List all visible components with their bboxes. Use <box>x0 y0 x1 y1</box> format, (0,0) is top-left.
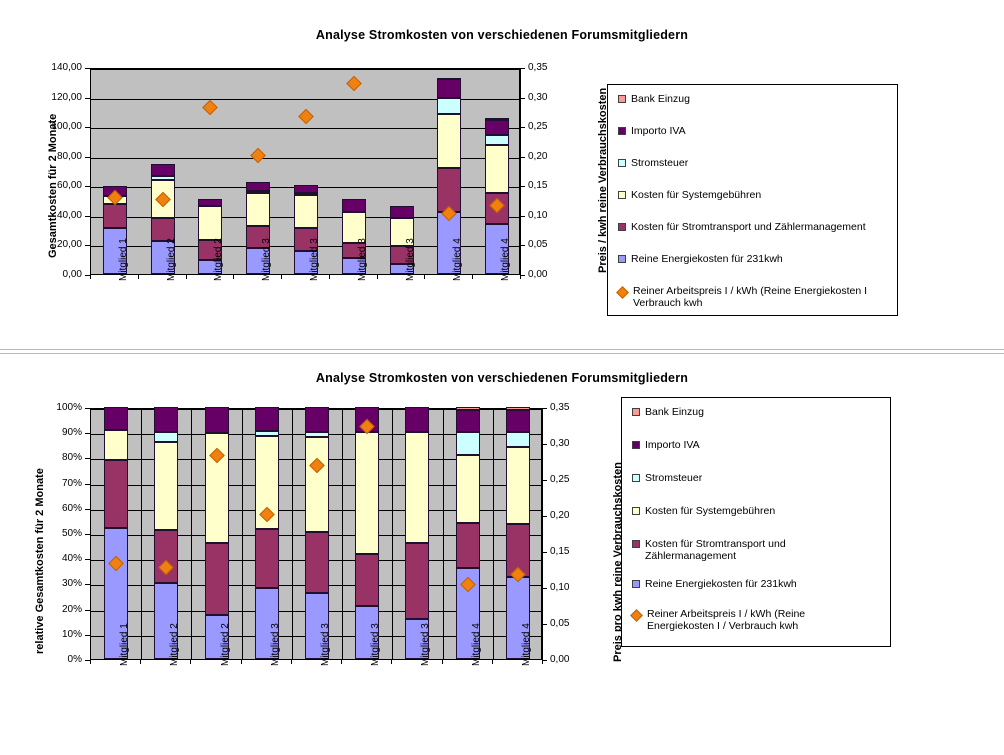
bar-segment[interactable] <box>485 120 509 135</box>
secondary-y-axis-line <box>520 68 521 275</box>
bar-segment[interactable] <box>154 530 178 583</box>
y-axis-tick-label: 40,00 <box>38 211 82 221</box>
x-axis-label: Mitglied 3 <box>370 623 381 666</box>
legend-item[interactable]: Kosten für Systemgebühren <box>618 189 919 201</box>
chart-title-absolute: Analyse Stromkosten von verschiedenen Fo… <box>0 28 1004 42</box>
legend-item[interactable]: Kosten für Stromtransport und Zählermana… <box>618 221 919 233</box>
bar-segment[interactable] <box>390 206 414 217</box>
legend-item[interactable]: Reiner Arbeitspreis I / kWh (Reine Energ… <box>618 285 919 309</box>
legend-item[interactable]: Bank Einzug <box>618 93 919 105</box>
x-axis-tick <box>281 275 282 279</box>
legend-relative: Bank EinzugImporto IVAStromsteuerKosten … <box>621 397 891 647</box>
y-axis-title: relative Gesamtkosten für 2 Monate <box>34 468 46 654</box>
bar-segment[interactable] <box>456 410 480 433</box>
legend-label: Bank Einzug <box>645 406 704 418</box>
legend-swatch-icon <box>618 159 626 167</box>
stacked-bar[interactable] <box>305 407 329 659</box>
legend-label: Reiner Arbeitspreis I / kWh (Reine Energ… <box>647 608 805 632</box>
y-axis-tick-label: 20,00 <box>38 240 82 250</box>
bar-segment[interactable] <box>154 442 178 530</box>
bar-segment[interactable] <box>506 447 530 524</box>
x-axis-tick <box>520 275 521 279</box>
y-axis-tick-label: 120,00 <box>38 93 82 103</box>
bar-segment[interactable] <box>294 185 318 193</box>
legend-label: Kosten für Systemgebühren <box>645 505 775 517</box>
legend-swatch-icon <box>618 255 626 263</box>
vertical-gridline <box>292 409 293 659</box>
legend-label: Importo IVA <box>645 439 700 451</box>
bar-segment[interactable] <box>205 407 229 433</box>
bar-segment[interactable] <box>305 437 329 532</box>
x-axis-tick <box>186 275 187 279</box>
legend-item[interactable]: Reine Energiekosten für 231kwh <box>632 578 912 590</box>
x-axis-tick <box>140 660 141 664</box>
legend-item[interactable]: Importo IVA <box>632 439 912 451</box>
secondary-y-axis-tick-label: 0,30 <box>550 439 569 449</box>
y-axis-tick-label: 90% <box>38 428 82 438</box>
x-axis-tick <box>492 660 493 664</box>
bar-segment[interactable] <box>154 432 178 442</box>
bar-segment[interactable] <box>355 554 379 606</box>
y-axis-tick-label: 60,00 <box>38 181 82 191</box>
x-axis-tick <box>472 275 473 279</box>
bar-segment[interactable] <box>255 431 279 436</box>
bar-segment[interactable] <box>305 532 329 594</box>
bar-segment[interactable] <box>506 407 530 410</box>
stacked-bar[interactable] <box>255 407 279 659</box>
legend-swatch-icon <box>632 441 640 449</box>
secondary-y-axis-tick-label: 0,05 <box>550 619 569 629</box>
y-axis-tick-label: 100,00 <box>38 122 82 132</box>
x-axis-tick <box>329 275 330 279</box>
legend-swatch-icon <box>632 580 640 588</box>
bar-segment[interactable] <box>405 543 429 619</box>
x-axis-tick <box>190 660 191 664</box>
x-axis-label: Mitglied 4 <box>521 623 532 666</box>
bar-segment[interactable] <box>104 407 128 430</box>
vertical-gridline <box>392 409 393 659</box>
bar-segment[interactable] <box>294 195 318 228</box>
stacked-bar[interactable] <box>456 407 480 659</box>
secondary-y-axis-tick-label: 0,25 <box>550 475 569 485</box>
legend-swatch-icon <box>618 127 626 135</box>
x-axis-tick <box>291 660 292 664</box>
x-axis-label: Mitglied 3 <box>309 238 320 281</box>
bar-segment[interactable] <box>456 407 480 410</box>
bar-segment[interactable] <box>437 114 461 168</box>
stacked-bar[interactable] <box>506 407 530 659</box>
secondary-y-axis-tick-label: 0,20 <box>550 511 569 521</box>
bar-segment[interactable] <box>456 432 480 455</box>
chart-title-relative: Analyse Stromkosten von verschiedenen Fo… <box>0 371 1004 385</box>
x-axis-label: Mitglied 2 <box>220 623 231 666</box>
stacked-bar[interactable] <box>205 407 229 659</box>
x-axis-tick <box>341 660 342 664</box>
secondary-y-axis-tick-label: 0,25 <box>528 122 547 132</box>
bar-segment[interactable] <box>506 432 530 447</box>
bar-segment[interactable] <box>305 407 329 432</box>
bar-segment[interactable] <box>246 182 270 191</box>
bar-segment[interactable] <box>506 410 530 433</box>
chart-panel-relative: Analyse Stromkosten von verschiedenen Fo… <box>0 352 1004 755</box>
legend-item[interactable]: Stromsteuer <box>632 472 912 484</box>
legend-label: Reine Energiekosten für 231kwh <box>645 578 797 590</box>
x-axis-label: Mitglied 3 <box>270 623 281 666</box>
vertical-gridline <box>191 409 192 659</box>
legend-swatch-icon <box>618 191 626 199</box>
x-axis-tick <box>241 660 242 664</box>
y-axis-line <box>90 408 91 660</box>
legend-label: Stromsteuer <box>631 157 688 169</box>
secondary-y-axis-tick-label: 0,10 <box>550 583 569 593</box>
secondary-y-axis-line <box>542 408 543 660</box>
legend-item[interactable]: Stromsteuer <box>618 157 919 169</box>
x-axis-tick <box>391 660 392 664</box>
vertical-gridline <box>443 409 444 659</box>
x-axis-label: Mitglied 4 <box>452 238 463 281</box>
bar-segment[interactable] <box>198 199 222 206</box>
legend-label: Reine Energiekosten für 231kwh <box>631 253 783 265</box>
legend-label: Importo IVA <box>631 125 686 137</box>
secondary-y-axis-tick-label: 0,00 <box>550 655 569 665</box>
panel-divider <box>0 349 1004 350</box>
y-axis-tick-label: 100% <box>38 403 82 413</box>
legend-label: Reiner Arbeitspreis I / kWh (Reine Energ… <box>633 285 867 309</box>
x-axis-tick <box>90 275 91 279</box>
x-axis-tick <box>233 275 234 279</box>
stacked-bar[interactable] <box>405 407 429 659</box>
bar-segment[interactable] <box>456 455 480 523</box>
bar-segment[interactable] <box>437 79 461 97</box>
vertical-gridline <box>493 409 494 659</box>
x-axis-label: Mitglied 2 <box>169 623 180 666</box>
y-axis-tick-label: 0% <box>38 655 82 665</box>
y-axis-tick-label: 80% <box>38 453 82 463</box>
bar-segment[interactable] <box>485 145 509 193</box>
y-axis-line <box>90 68 91 275</box>
secondary-y-axis-tick-label: 0,05 <box>528 240 547 250</box>
legend-item[interactable]: Kosten für Stromtransport und Zählermana… <box>632 538 912 562</box>
y-axis-tick-label: 80,00 <box>38 152 82 162</box>
bar-segment[interactable] <box>104 460 128 528</box>
x-axis-label: Mitglied 3 <box>320 623 331 666</box>
x-axis-label: Mitglied 3 <box>261 238 272 281</box>
bar-segment[interactable] <box>485 135 509 145</box>
legend-swatch-icon <box>632 507 640 515</box>
x-axis-tick <box>424 275 425 279</box>
secondary-y-axis-tick-label: 0,35 <box>550 403 569 413</box>
bar-segment[interactable] <box>205 543 229 615</box>
legend-item[interactable]: Reiner Arbeitspreis I / kWh (Reine Energ… <box>632 608 912 632</box>
bar-segment[interactable] <box>154 407 178 432</box>
legend-diamond-icon <box>630 609 643 622</box>
secondary-y-axis-tick-label: 0,10 <box>528 211 547 221</box>
bar-segment[interactable] <box>342 199 366 212</box>
secondary-y-axis-tick-label: 0,00 <box>528 270 547 280</box>
stacked-bar[interactable] <box>154 407 178 659</box>
bar-segment[interactable] <box>255 529 279 588</box>
bar-segment[interactable] <box>305 432 329 437</box>
legend-label: Kosten für Stromtransport und Zählermana… <box>645 538 786 562</box>
x-axis-tick <box>138 275 139 279</box>
y-axis-title: Gesamtkosten für 2 Monate <box>47 114 59 258</box>
secondary-y-axis-tick-label: 0,15 <box>550 547 569 557</box>
stacked-bar[interactable] <box>355 407 379 659</box>
bar-segment[interactable] <box>246 193 270 226</box>
bar-segment[interactable] <box>104 430 128 460</box>
legend-swatch-icon <box>618 95 626 103</box>
x-axis-label: Mitglied 1 <box>118 238 129 281</box>
x-axis-label: Mitglied 1 <box>119 623 130 666</box>
x-axis-label: Mitglied 4 <box>500 238 511 281</box>
bar-segment[interactable] <box>437 98 461 115</box>
secondary-y-axis-tick-label: 0,35 <box>528 63 547 73</box>
bar-segment[interactable] <box>456 523 480 568</box>
x-axis-tick <box>442 660 443 664</box>
x-axis-label: Mitglied 3 <box>405 238 416 281</box>
bar-segment[interactable] <box>355 432 379 554</box>
x-axis-tick <box>90 660 91 664</box>
x-axis-tick <box>377 275 378 279</box>
legend-label: Kosten für Systemgebühren <box>631 189 761 201</box>
vertical-gridline <box>342 409 343 659</box>
legend-absolute: Bank EinzugImporto IVAStromsteuerKosten … <box>607 84 898 316</box>
x-axis-label: Mitglied 2 <box>166 238 177 281</box>
bar-segment[interactable] <box>405 407 429 432</box>
bar-segment[interactable] <box>437 78 461 80</box>
chart-panel-absolute: Analyse Stromkosten von verschiedenen Fo… <box>0 0 1004 352</box>
bar-segment[interactable] <box>405 432 429 543</box>
secondary-y-axis-tick-label: 0,30 <box>528 93 547 103</box>
x-axis-label: Mitglied 4 <box>471 623 482 666</box>
bar-segment[interactable] <box>103 204 127 228</box>
legend-swatch-icon <box>618 223 626 231</box>
legend-label: Kosten für Stromtransport und Zählermana… <box>631 221 866 233</box>
y-axis-tick-label: 140,00 <box>38 63 82 73</box>
bar-segment[interactable] <box>151 164 175 176</box>
vertical-gridline <box>242 409 243 659</box>
legend-item[interactable]: Kosten für Systemgebühren <box>632 505 912 517</box>
legend-swatch-icon <box>632 408 640 416</box>
legend-diamond-icon <box>616 286 629 299</box>
legend-item[interactable]: Importo IVA <box>618 125 919 137</box>
bar-segment[interactable] <box>198 206 222 240</box>
secondary-y-axis-tick-label: 0,15 <box>528 181 547 191</box>
bar-segment[interactable] <box>485 118 509 120</box>
legend-label: Bank Einzug <box>631 93 690 105</box>
bar-segment[interactable] <box>255 407 279 431</box>
secondary-y-axis-tick-label: 0,20 <box>528 152 547 162</box>
bar-segment[interactable] <box>246 191 270 193</box>
legend-swatch-icon <box>632 474 640 482</box>
x-axis-label: Mitglied 2 <box>213 238 224 281</box>
x-axis-label: Mitglied 3 <box>420 623 431 666</box>
legend-label: Stromsteuer <box>645 472 702 484</box>
y-axis-tick-label: 0,00 <box>38 270 82 280</box>
x-axis-tick <box>542 660 543 664</box>
stacked-bar[interactable] <box>104 407 128 659</box>
x-axis-label: Mitglied 3 <box>357 238 368 281</box>
vertical-gridline <box>141 409 142 659</box>
legend-item[interactable]: Reine Energiekosten für 231kwh <box>618 253 919 265</box>
legend-item[interactable]: Bank Einzug <box>632 406 912 418</box>
bar-segment[interactable] <box>294 193 318 195</box>
legend-swatch-icon <box>632 540 640 548</box>
bar-segment[interactable] <box>151 176 175 180</box>
